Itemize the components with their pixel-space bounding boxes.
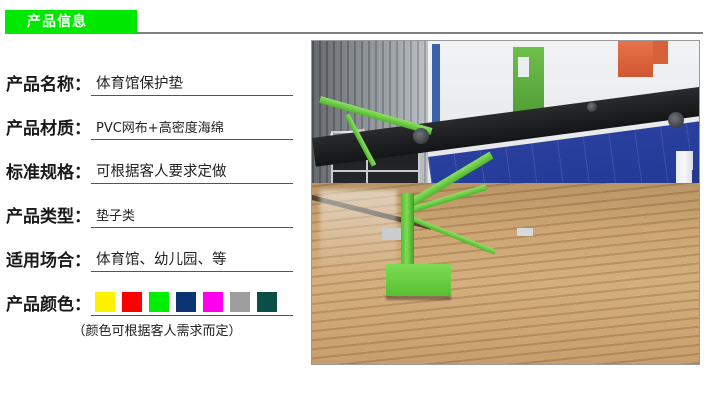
product-photo-frame	[311, 40, 700, 365]
photo-orange-panel-2	[653, 41, 668, 64]
spec-row-product-type: 产品类型： 垫子类	[0, 184, 300, 228]
spec-value: 垫子类	[91, 209, 135, 226]
spec-label: 产品颜色：	[0, 296, 91, 316]
product-photo	[312, 41, 699, 364]
spec-row-material: 产品材质： PVC网布+高密度海绵	[0, 96, 300, 140]
color-swatch-magenta	[203, 292, 223, 312]
spec-row-standard-size: 标准规格： 可根据客人要求定做	[0, 140, 300, 184]
spec-value: PVC网布+高密度海绵	[91, 121, 224, 138]
photo-door-rail	[331, 170, 420, 172]
color-swatch-strip	[91, 292, 277, 314]
spec-value: 可根据客人要求定做	[91, 164, 227, 182]
photo-orange-panel	[618, 41, 653, 77]
page-header: 产品信息	[0, 10, 706, 34]
spec-row-product-name: 产品名称： 体育馆保护垫	[0, 52, 300, 96]
spec-value-underline: 垫子类	[91, 206, 293, 228]
color-swatch-yellow	[95, 292, 115, 312]
spec-value-underline: 体育馆保护垫	[91, 74, 293, 96]
spec-value: 体育馆保护垫	[91, 76, 183, 94]
photo-floor-object-2	[517, 228, 532, 236]
spec-label: 适用场合：	[0, 252, 91, 272]
section-title-label: 产品信息	[5, 15, 87, 29]
product-spec-list: 产品名称： 体育馆保护垫 产品材质： PVC网布+高密度海绵 标准规格： 可根据…	[0, 52, 300, 316]
section-title-tab: 产品信息	[5, 10, 137, 34]
photo-green-panel-mark	[518, 57, 530, 76]
spec-label: 产品材质：	[0, 120, 91, 140]
spec-row-application: 适用场合： 体育馆、幼儿园、等	[0, 228, 300, 272]
product-info-page: 产品信息 产品名称： 体育馆保护垫 产品材质： PVC网布+高密度海绵 标准规格…	[0, 0, 706, 400]
spec-value-underline: 可根据客人要求定做	[91, 162, 293, 184]
spec-value-underline: 体育馆、幼儿园、等	[91, 250, 293, 272]
spec-label: 产品名称：	[0, 76, 91, 96]
color-swatch-green	[149, 292, 169, 312]
color-swatch-navy	[176, 292, 196, 312]
spec-value: 体育馆、幼儿园、等	[91, 252, 227, 270]
color-swatch-dark-teal	[257, 292, 277, 312]
photo-wall-fan-1	[413, 128, 429, 144]
photo-hoop-base	[386, 264, 452, 296]
photo-wall-fan-2	[668, 112, 684, 128]
spec-value-underline	[91, 292, 293, 316]
color-note: （颜色可根据客人需求而定）	[0, 320, 300, 339]
spec-label: 标准规格：	[0, 164, 91, 184]
spec-value-underline: PVC网布+高密度海绵	[91, 118, 293, 140]
spec-label: 产品类型：	[0, 208, 91, 228]
color-swatch-gray	[230, 292, 250, 312]
spec-row-product-color: 产品颜色：	[0, 272, 300, 316]
color-swatch-red	[122, 292, 142, 312]
